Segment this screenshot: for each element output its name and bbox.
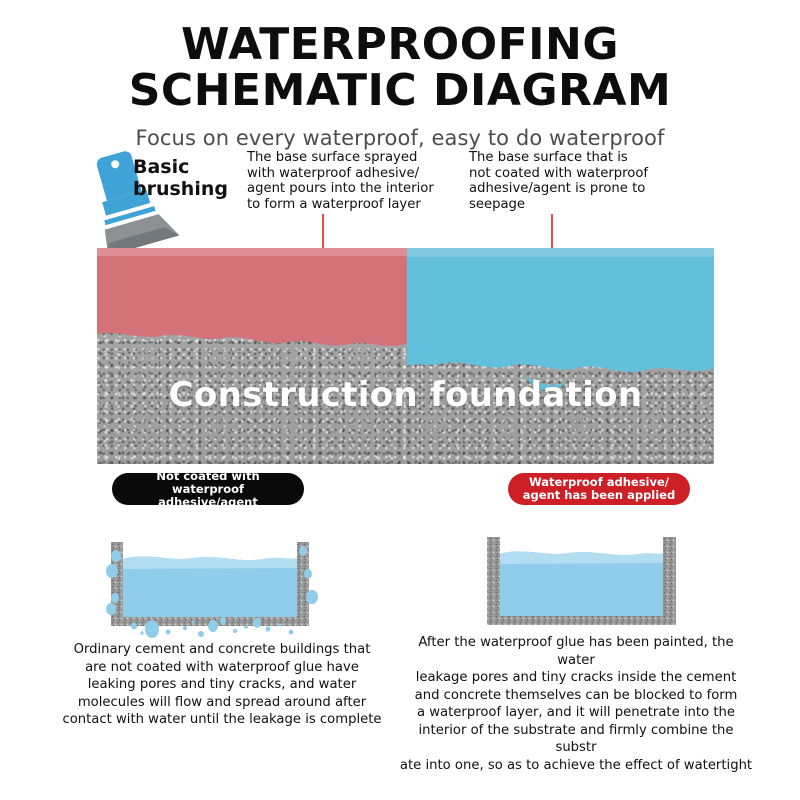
leaking-container-figure (105, 525, 340, 635)
basic-brushing-label: Basic brushing (133, 156, 228, 200)
foundation-section-diagram (97, 248, 714, 464)
badge-not-coated: Not coated with waterproof adhesive/agen… (112, 473, 304, 505)
page-title-line-1: WATERPROOFING (0, 22, 800, 68)
sealed-container-figure (465, 525, 700, 635)
badge-applied: Waterproof adhesive/ agent has been appl… (508, 473, 690, 505)
coated-callout-text: The base surface sprayed with waterproof… (247, 150, 462, 212)
sealed-caption: After the waterproof glue has been paint… (398, 634, 754, 774)
page-subtitle: Focus on every waterproof, easy to do wa… (0, 126, 800, 150)
waterproofed-red-layer (97, 248, 407, 464)
page-title-line-2: SCHEMATIC DIAGRAM (0, 68, 800, 114)
foundation-label: Construction foundation (97, 375, 714, 415)
seepage-blue-layer (407, 248, 714, 464)
page-header: WATERPROOFING SCHEMATIC DIAGRAM Focus on… (0, 22, 800, 150)
basic-brushing-group: Basic brushing (88, 148, 218, 258)
uncoated-callout-text: The base surface that is not coated with… (469, 150, 684, 212)
leaking-caption: Ordinary cement and concrete buildings t… (62, 641, 382, 729)
